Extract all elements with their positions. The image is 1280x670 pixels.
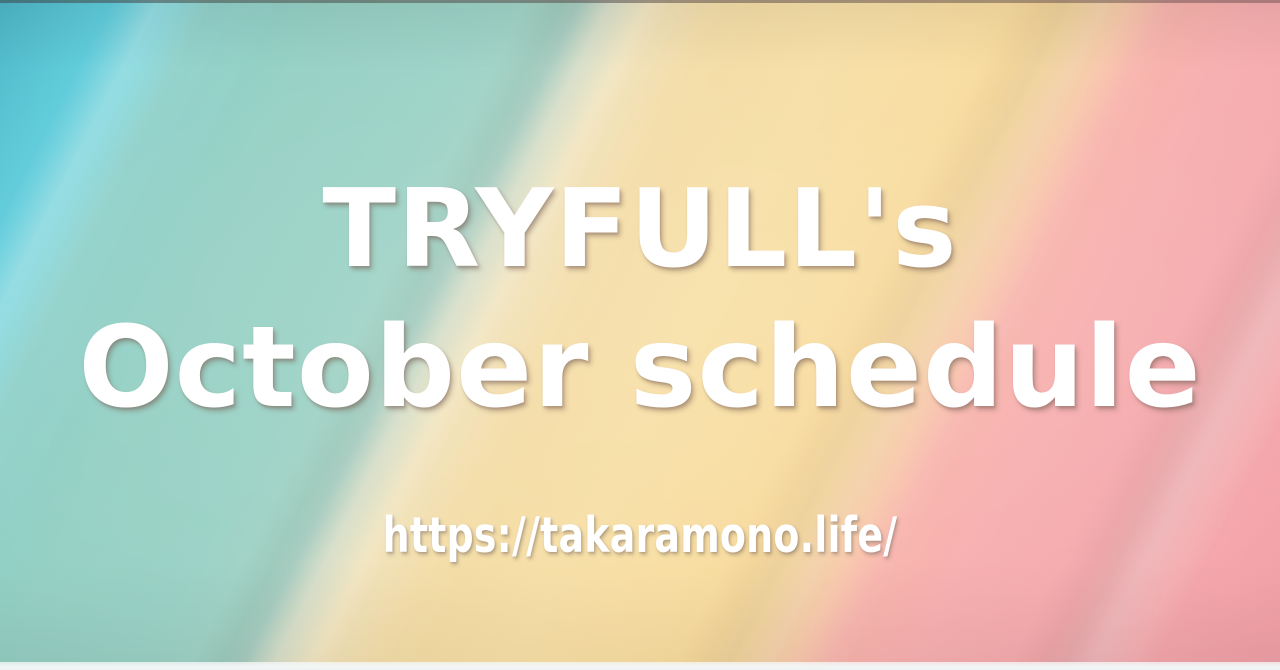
- headline-line-2: October schedule: [0, 312, 1280, 424]
- headline-line-1: TRYFULL's: [0, 176, 1280, 284]
- banner-image: TRYFULL's October schedule https://takar…: [0, 0, 1280, 670]
- website-url-text: https://takaramono.life/: [90, 511, 1191, 560]
- banner-content: TRYFULL's October schedule https://takar…: [0, 0, 1280, 670]
